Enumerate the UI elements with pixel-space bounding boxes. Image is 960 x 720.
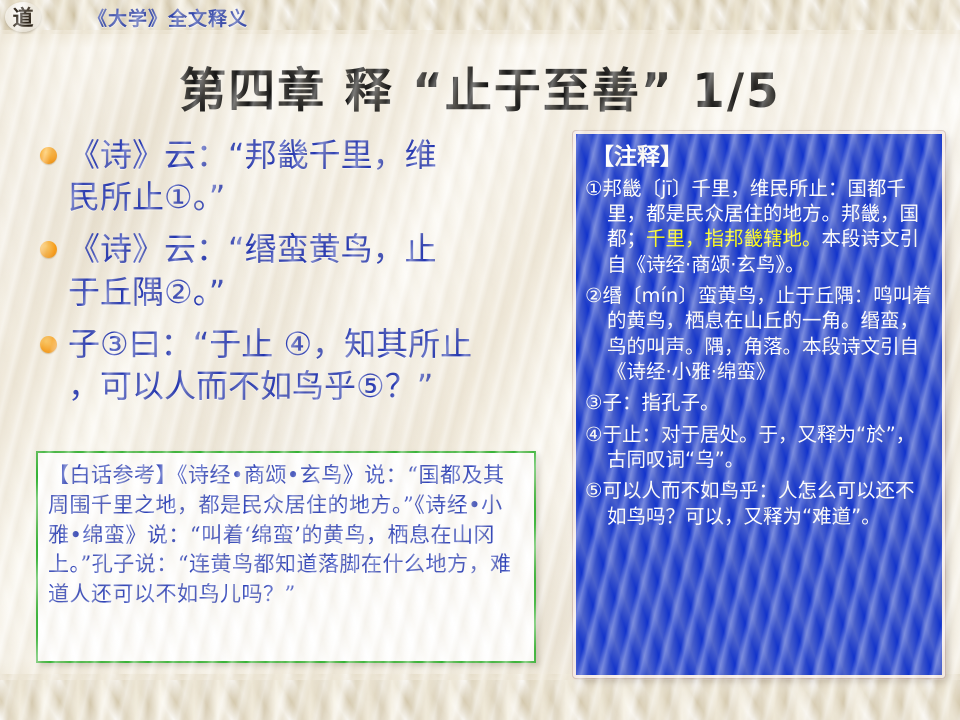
page-title: 第四章 释 “止于至善” 1/5 <box>0 52 960 121</box>
bottom-decorative-band <box>0 674 960 720</box>
annotation-highlight: 千里，指邦畿辖地。 <box>646 227 822 250</box>
vernacular-reference-box: 【白话参考】《诗经•商颂•玄鸟》说：“国都及其周围千里之地，都是民众居住的地方。… <box>36 451 536 663</box>
list-item-line: 子③曰：“于止 ④，知其所止 <box>68 323 558 365</box>
list-item-line: 民所止①。” <box>68 176 558 218</box>
annotation-item-3: ③子：指孔子。 <box>585 390 933 415</box>
list-item: 《诗》云：“邦畿千里，维 民所止①。” <box>28 134 558 218</box>
vernacular-label: 【白话参考】 <box>48 463 177 487</box>
annotations-heading: 【注释】 <box>591 144 933 172</box>
annotation-item-2: ②缗〔mín〕蛮黄鸟，止于丘隅：鸣叫着的黄鸟，栖息在山丘的一角。缗蛮，鸟的叫声。… <box>585 283 933 384</box>
header-title: 《大学》全文释义 <box>88 4 248 31</box>
dao-seal-logo-icon: 道 <box>5 2 41 32</box>
bullet-dot-icon <box>40 336 57 353</box>
annotations-box: 【注释】 ①邦畿〔jī〕千里，维民所止：国都千里，都是民众居住的地方。邦畿，国都… <box>573 131 945 678</box>
annotation-text: ③子：指孔子。 <box>585 391 719 414</box>
list-item-line: ，可以人而不如鸟乎⑤？” <box>68 365 558 407</box>
list-item-text: 《诗》云：“邦畿千里，维 民所止①。” <box>68 134 558 218</box>
annotation-item-4: ④于止：对于居处。于，又释为“於”，古同叹词“乌”。 <box>585 422 933 473</box>
annotation-item-5: ⑤可以人而不如鸟乎：人怎么可以还不如鸟吗？可以，又释为“难道”。 <box>585 478 933 529</box>
slide-canvas: 道 《大学》全文释义 第四章 释 “止于至善” 1/5 《诗》云：“邦畿千里，维… <box>0 0 960 720</box>
list-item-text: 《诗》云：“缗蛮黄鸟，止 于丘隅②。” <box>68 228 558 312</box>
list-item-line: 于丘隅②。” <box>68 271 558 313</box>
bullet-dot-icon <box>40 241 57 258</box>
list-item: 《诗》云：“缗蛮黄鸟，止 于丘隅②。” <box>28 228 558 312</box>
list-item-text: 子③曰：“于止 ④，知其所止 ，可以人而不如鸟乎⑤？” <box>68 323 558 407</box>
annotation-item-1: ①邦畿〔jī〕千里，维民所止：国都千里，都是民众居住的地方。邦畿，国都；千里，指… <box>585 176 933 277</box>
list-item-line: 《诗》云：“邦畿千里，维 <box>68 134 558 176</box>
vernacular-text: 【白话参考】《诗经•商颂•玄鸟》说：“国都及其周围千里之地，都是民众居住的地方。… <box>38 453 534 610</box>
list-item-line: 《诗》云：“缗蛮黄鸟，止 <box>68 228 558 270</box>
bullet-list: 《诗》云：“邦畿千里，维 民所止①。” 《诗》云：“缗蛮黄鸟，止 于丘隅②。” … <box>28 134 558 417</box>
list-item: 子③曰：“于止 ④，知其所止 ，可以人而不如鸟乎⑤？” <box>28 323 558 407</box>
annotation-text: ④于止：对于居处。于，又释为“於”，古同叹词“乌”。 <box>585 423 915 471</box>
annotation-text: ②缗〔mín〕蛮黄鸟，止于丘隅：鸣叫着的黄鸟，栖息在山丘的一角。缗蛮，鸟的叫声。… <box>585 284 932 383</box>
top-band-fade <box>0 30 960 48</box>
annotation-text: ⑤可以人而不如鸟乎：人怎么可以还不如鸟吗？可以，又释为“难道”。 <box>585 479 914 527</box>
bullet-dot-icon <box>40 147 57 164</box>
